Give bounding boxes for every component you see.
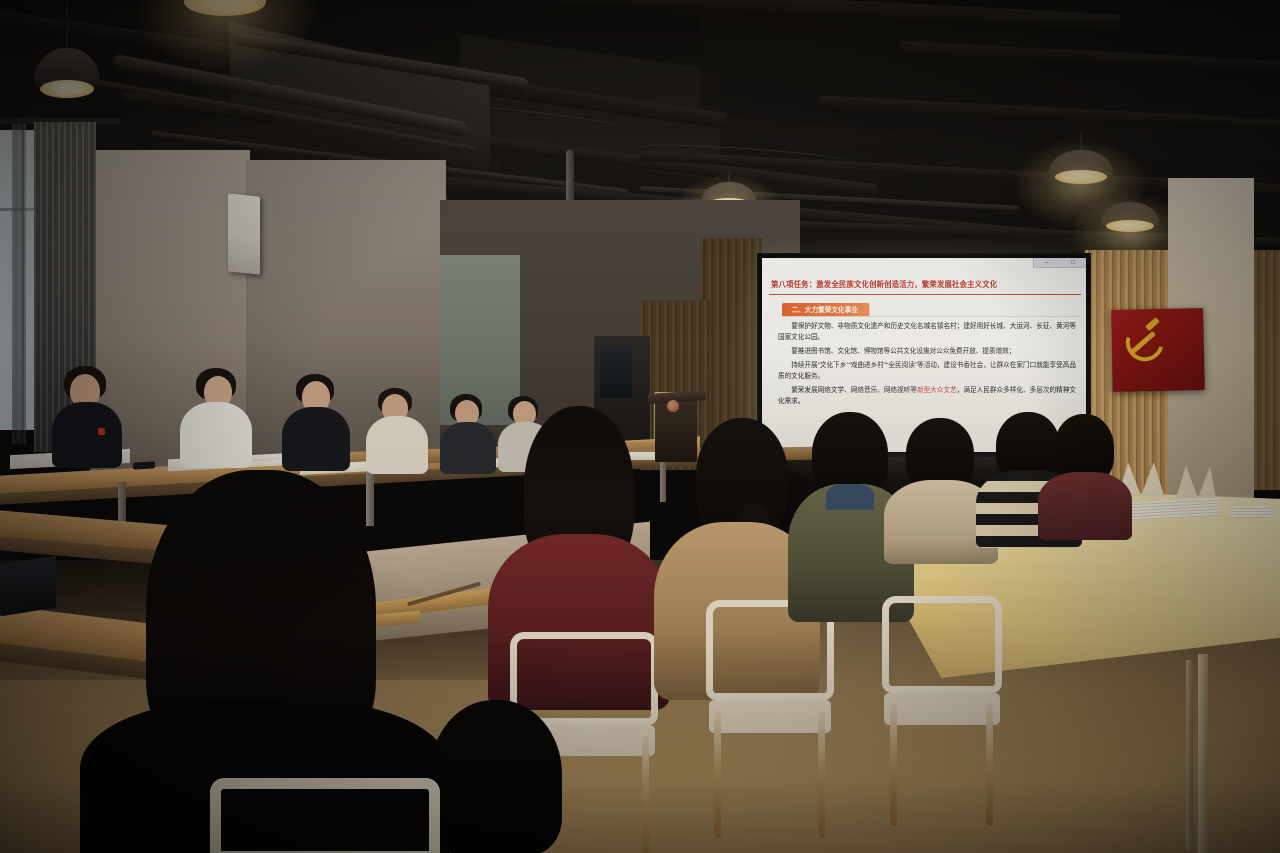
chair[interactable]	[210, 778, 440, 853]
seated-person	[56, 366, 118, 466]
tablet-stand	[0, 556, 56, 617]
table-leg	[1186, 660, 1193, 850]
foreground-person	[416, 700, 576, 853]
monitor	[600, 346, 632, 398]
party-flag	[1111, 308, 1205, 392]
pendant-lamp	[18, 0, 116, 110]
seated-person	[1038, 414, 1134, 534]
badge-pin	[98, 428, 105, 435]
pendant-lamp	[160, 0, 290, 50]
title-divider	[769, 294, 1081, 295]
wall-speaker	[228, 193, 260, 274]
slide-paragraph: 要保护好文物、非物质文化遗产和历史文化名城名镇名村；建好用好长城、大运河、长征、…	[778, 322, 1076, 343]
window-controls[interactable]: – □	[1033, 258, 1086, 268]
section-divider	[782, 316, 1080, 317]
slide-title: 第八项任务：激发全民族文化创新创造活力，繁荣发展社会主义文化	[771, 279, 1055, 290]
seated-person	[368, 388, 424, 472]
table-leg	[1198, 654, 1208, 853]
seated-person	[186, 368, 248, 468]
minimize-icon[interactable]: –	[1045, 260, 1048, 266]
shirt-collar	[826, 484, 874, 510]
classroom-photo: – □ 第八项任务：激发全民族文化创新创造活力，繁荣发展社会主义文化 二、大力繁…	[0, 0, 1280, 853]
chair[interactable]	[706, 600, 834, 838]
slide-title-row: 第八项任务：激发全民族文化创新创造活力，繁荣发展社会主义文化	[771, 279, 1080, 290]
slide-paragraph: 持续开展“文化下乡”“戏曲进乡村”“全民阅读”等活动，建设书香社会，让群众在家门…	[778, 361, 1076, 382]
slide-paragraph: 繁荣发展网络文学、网络音乐、网络视听等新型大众文艺，满足人民群众多样化、多层次的…	[778, 386, 1076, 407]
paper-stack	[1230, 506, 1272, 518]
chair[interactable]	[882, 596, 1002, 826]
maximize-icon[interactable]: □	[1071, 260, 1075, 266]
phone	[133, 461, 155, 469]
slide-section-heading: 二、大力繁荣文化事业	[782, 303, 869, 317]
seated-person	[286, 374, 346, 470]
slide-paragraph: 要推进图书馆、文化馆、博物馆等公共文化设施对公众免费开放、提质增效；	[778, 347, 1076, 358]
curtain	[12, 124, 26, 444]
slide-body: 要保护好文物、非物质文化遗产和历史文化名城名镇名村；建好用好长城、大运河、长征、…	[778, 322, 1076, 411]
